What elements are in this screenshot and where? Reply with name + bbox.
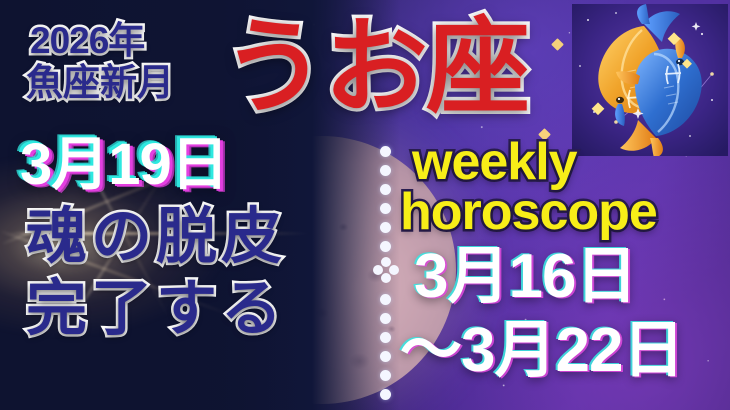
divider-flower-ornament xyxy=(374,258,399,283)
date-range-start: 3月16日 xyxy=(414,246,636,308)
divider-dot xyxy=(380,389,391,400)
divider-dot xyxy=(380,370,391,381)
new-moon-label: 魚座新月 xyxy=(26,64,174,101)
pisces-illustration xyxy=(572,4,728,156)
video-thumbnail: 2026年 魚座新月 3月19日 魂の脱皮 完了する うお座 weekly ho… xyxy=(0,0,730,410)
year-label: 2026年 xyxy=(30,22,144,59)
divider-dot xyxy=(380,332,391,343)
divider-dot xyxy=(380,241,391,252)
slogan-line-2: 完了する xyxy=(26,278,286,339)
divider-dot xyxy=(380,184,391,195)
slogan-line-1: 魂の脱皮 xyxy=(26,206,286,267)
weekly-label: weekly xyxy=(412,136,577,188)
divider-dot xyxy=(380,203,391,214)
date-range-end: 〜3月22日 xyxy=(400,320,683,382)
new-moon-date: 3月19日 xyxy=(20,136,228,194)
divider-dot xyxy=(380,146,391,157)
divider-dot xyxy=(380,222,391,233)
divider-dot xyxy=(380,313,391,324)
page-title: うお座 xyxy=(222,16,528,120)
vertical-dotted-divider xyxy=(378,146,394,404)
divider-dot xyxy=(380,351,391,362)
horoscope-label: horoscope xyxy=(400,186,657,238)
divider-dot xyxy=(380,294,391,305)
divider-dot xyxy=(380,165,391,176)
